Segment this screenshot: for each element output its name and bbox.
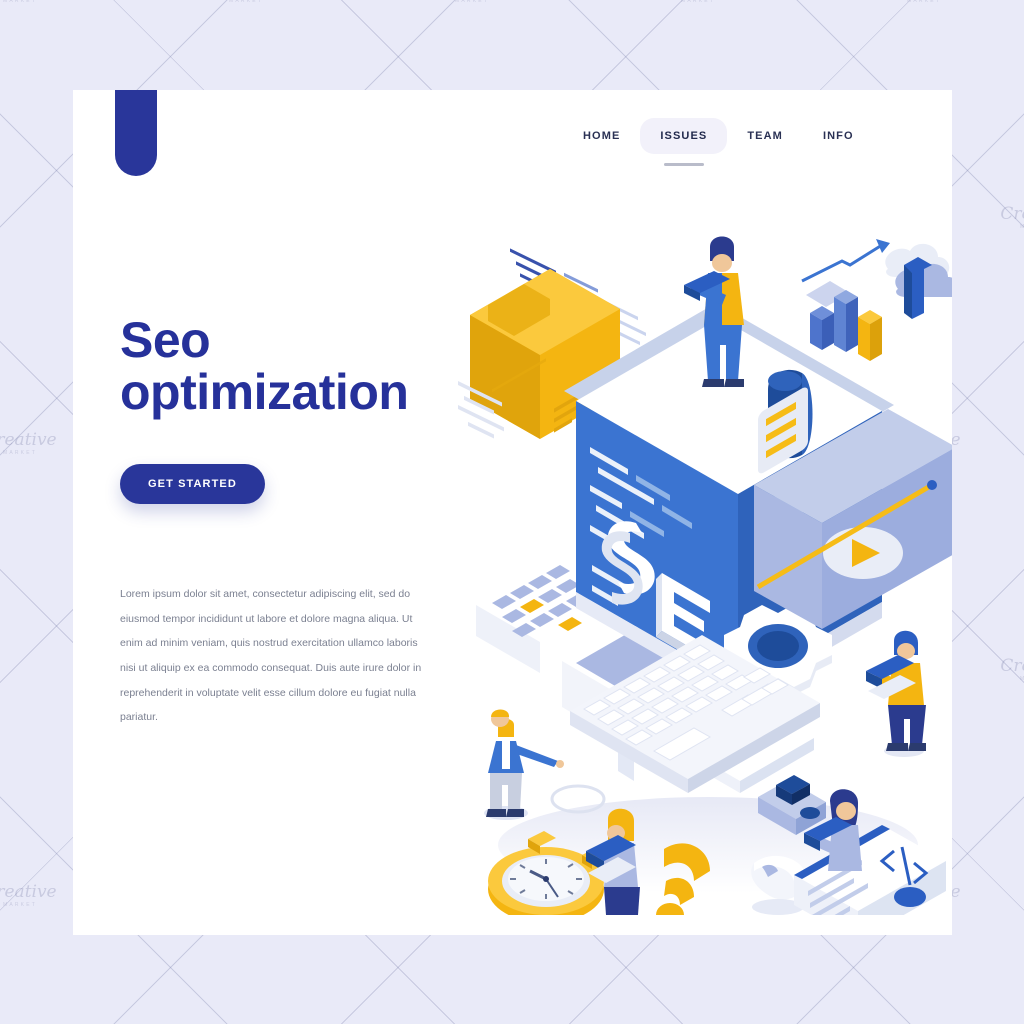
landing-page-card: HOME ISSUES TEAM INFO Seo optimization G… [73,90,952,935]
cloud-upload [885,244,952,319]
illustration-svg [458,185,952,915]
trend-line [802,245,882,281]
watermark-mark: CreativeMARKET [0,0,80,4]
watermark-mark: CreativeMARKET [638,0,758,4]
watermark-mark: CreativeMARKET [0,432,80,456]
nav-item-team[interactable]: TEAM [727,118,803,154]
brand-logo-tab[interactable] [115,90,157,176]
get-started-button[interactable]: GET STARTED [120,464,265,504]
nav-item-home[interactable]: HOME [563,118,640,154]
progress-knob [927,480,937,490]
main-navigation: HOME ISSUES TEAM INFO [563,118,874,154]
isometric-seo-illustration [458,185,952,915]
screenshot-stage: CreativeMARKETCreativeMARKETCreativeMARK… [0,0,1024,1024]
bar-3 [858,310,882,361]
nav-item-issues[interactable]: ISSUES [640,118,727,154]
watermark-mark: CreativeMARKET [977,658,1024,682]
bar-1 [810,306,834,350]
nav-item-info[interactable]: INFO [803,118,874,154]
play-button [823,527,903,579]
bar-chart [802,239,890,361]
headline-line-2: optimization [120,364,408,420]
page-title: Seo optimization [120,315,450,418]
person-with-laptop [866,631,926,757]
hero-paragraph: Lorem ipsum dolor sit amet, consectetur … [120,582,430,730]
headline-line-1: Seo [120,312,210,368]
watermark-mark: CreativeMARKET [864,0,984,4]
watermark-mark: CreativeMARKET [186,0,306,4]
chat-bubble [894,887,926,907]
watermark-mark: CreativeMARKET [977,206,1024,230]
watermark-mark: CreativeMARKET [412,0,532,4]
hero-section: Seo optimization GET STARTED Lorem ipsum… [120,315,450,730]
bar-2 [834,290,858,352]
watermark-mark: CreativeMARKET [0,884,80,908]
